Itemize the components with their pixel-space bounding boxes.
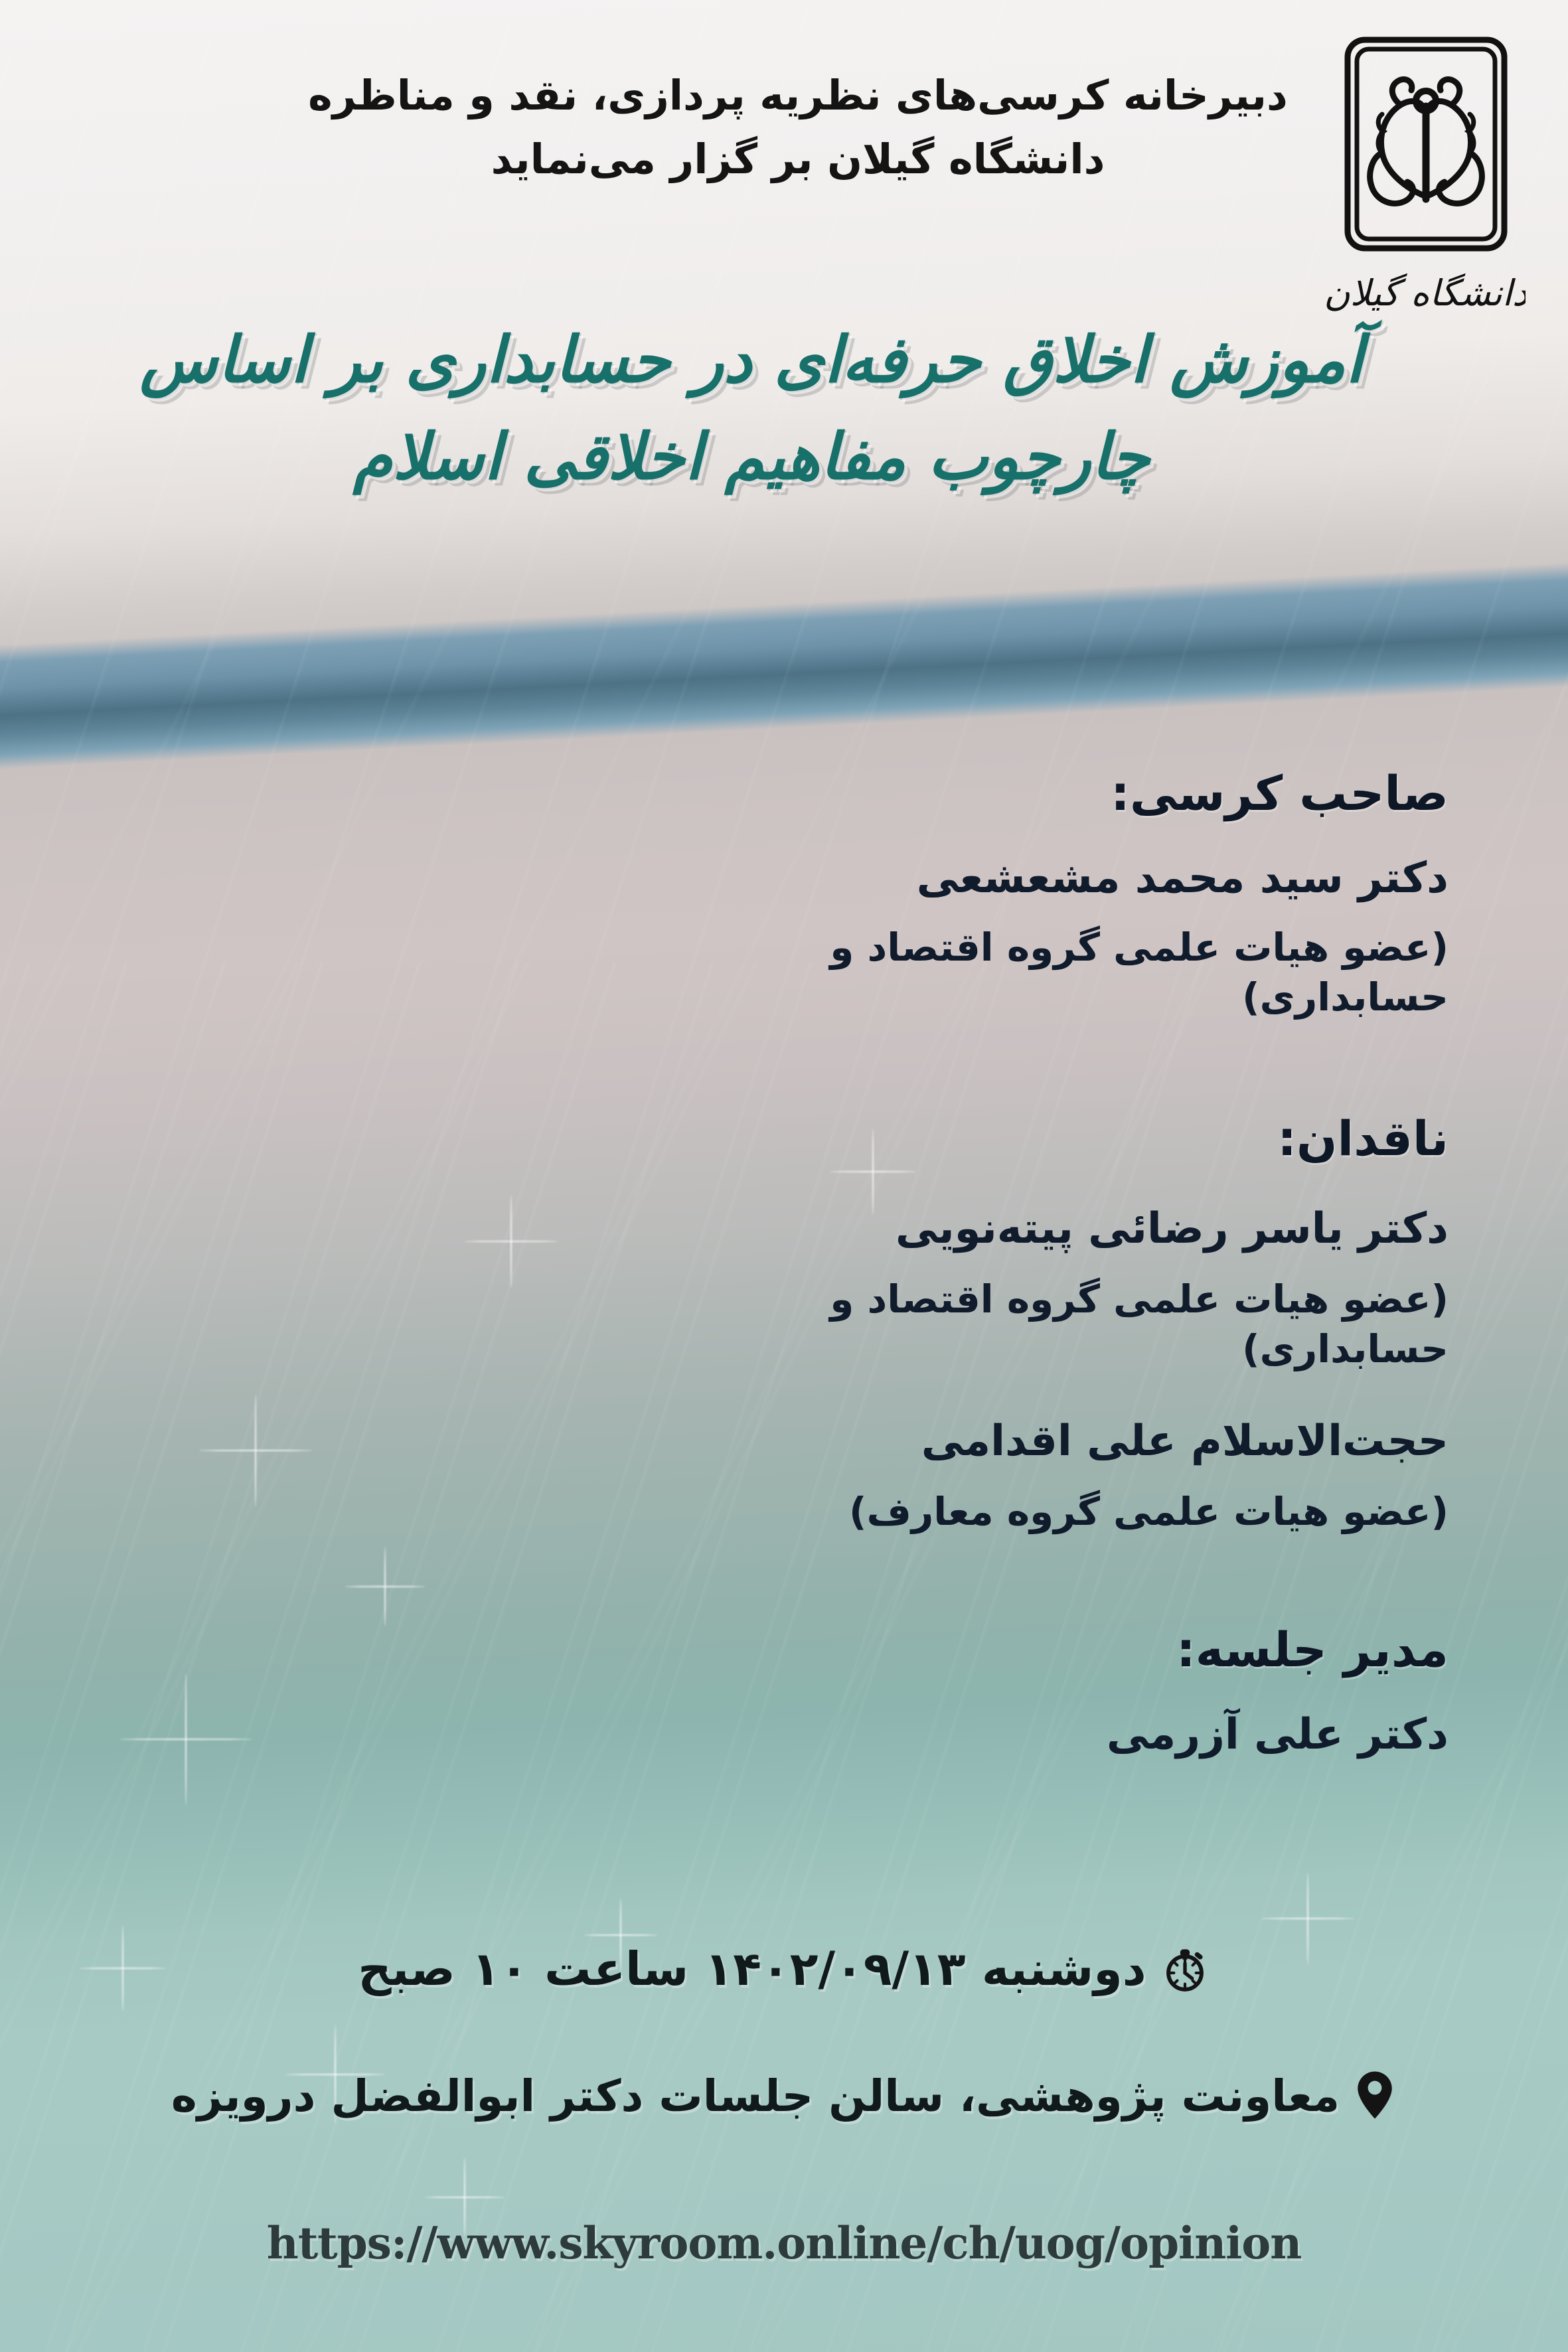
event-webinar-link[interactable]: https://www.skyroom.online/ch/uog/opinio… <box>0 2217 1568 2269</box>
person-affiliation-chair-holder: (عضو هیات علمی گروه اقتصاد و حسابداری) <box>718 923 1449 1023</box>
event-datetime-text: دوشنبه ۱۴۰۲/۰۹/۱۳ ساعت ۱۰ صبح <box>358 1942 1146 1996</box>
organizer-line-1: دبیرخانه کرسی‌های نظریه پردازی، نقد و من… <box>307 64 1289 127</box>
gilan-logo-icon <box>1342 35 1510 254</box>
role-label-session-manager: مدیر جلسه: <box>785 1620 1449 1680</box>
person-name-critic-1: دکتر یاسر رضائی پیته‌نویی <box>718 1202 1449 1257</box>
organizer-header: دبیرخانه کرسی‌های نظریه پردازی، نقد و من… <box>307 64 1289 191</box>
location-pin-icon <box>1353 2070 1397 2120</box>
person-name-critic-2: حجت‌الاسلام علی اقدامی <box>718 1414 1449 1469</box>
person-affiliation-critic-2: (عضو هیات علمی گروه معارف) <box>685 1487 1449 1537</box>
calculator-photo-panel <box>0 402 445 1105</box>
university-logo: دانشگاه گیلان <box>1320 35 1532 327</box>
sparkle-decoration <box>345 1547 425 1626</box>
sparkle-decoration <box>199 1394 312 1507</box>
event-location-text: معاونت پژوهشی، سالن جلسات دکتر ابوالفضل … <box>171 2071 1340 2122</box>
logo-caption-label: دانشگاه گیلان <box>1326 272 1526 314</box>
stopwatch-icon <box>1160 1944 1210 1994</box>
person-affiliation-critic-1: (عضو هیات علمی گروه اقتصاد و حسابداری) <box>685 1275 1449 1375</box>
sparkle-decoration <box>119 1673 252 1806</box>
sparkle-decoration <box>465 1195 558 1288</box>
organizer-line-2: دانشگاه گیلان بر گزار می‌نماید <box>307 127 1289 191</box>
person-name-chair-holder: دکتر سید محمد مشعشعی <box>785 851 1449 906</box>
photo-frame-black-border <box>0 402 23 1368</box>
event-datetime: دوشنبه ۱۴۰۲/۰۹/۱۳ ساعت ۱۰ صبح <box>0 1942 1568 1996</box>
event-webinar-url-text[interactable]: https://www.skyroom.online/ch/uog/opinio… <box>267 2217 1302 2269</box>
role-label-critics: ناقدان: <box>785 1109 1449 1168</box>
poster-title-line-1: آموزش اخلاق حرفه‌ای در حسابداری بر اساس <box>94 312 1409 409</box>
event-poster: دانشگاه گیلان دبیرخانه کرسی‌های نظریه پر… <box>0 0 1568 2352</box>
event-location: معاونت پژوهشی، سالن جلسات دکتر ابوالفضل … <box>0 2070 1568 2122</box>
person-name-session-manager: دکتر علی آزرمی <box>785 1707 1449 1763</box>
role-label-chair-holder: صاحب کرسی: <box>785 763 1449 823</box>
